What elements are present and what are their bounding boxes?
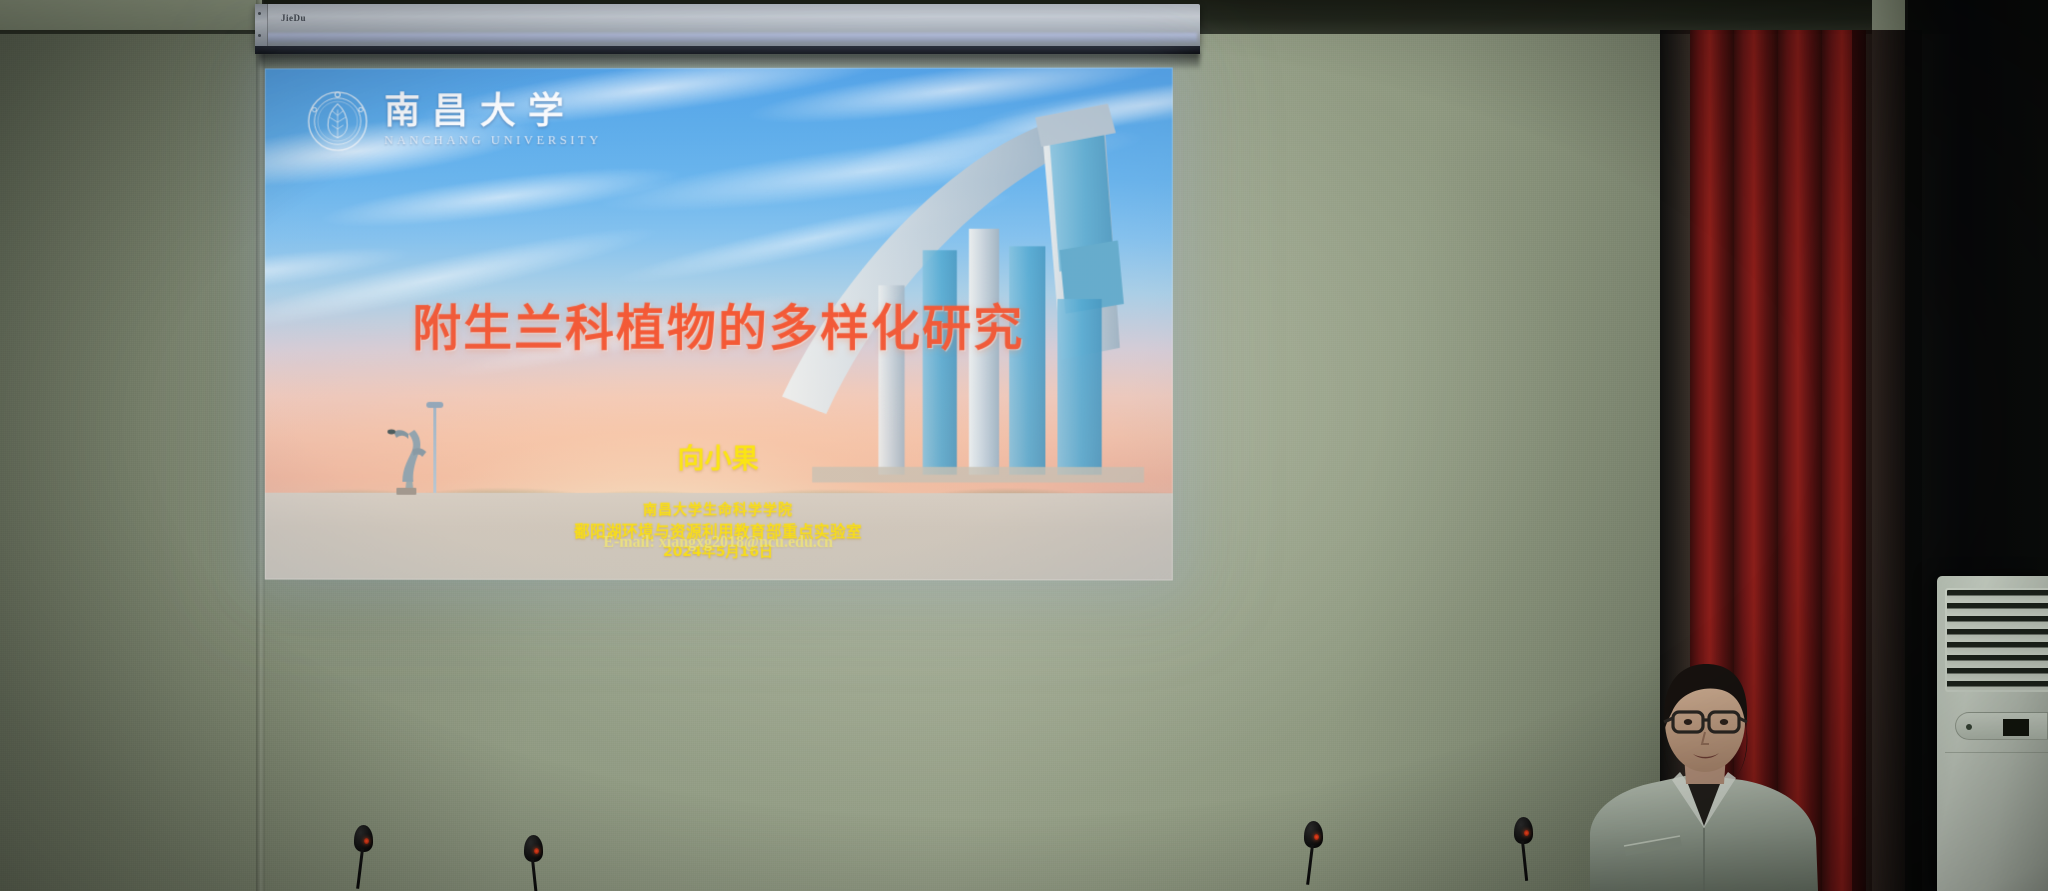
ac-seam bbox=[1945, 752, 2048, 753]
projection-screen: 南昌大学 NANCHANG UNIVERSITY 附生兰科植物的多样化研究 向小… bbox=[265, 68, 1173, 581]
microphone-1[interactable] bbox=[350, 825, 376, 891]
microphone-4[interactable] bbox=[1510, 817, 1536, 891]
university-name-block: 南昌大学 NANCHANG UNIVERSITY bbox=[384, 93, 602, 149]
university-seal-icon bbox=[306, 90, 368, 152]
microphone-3[interactable] bbox=[1300, 821, 1326, 891]
university-name-en: NANCHANG UNIVERSITY bbox=[384, 133, 602, 148]
presenter bbox=[1576, 650, 1848, 891]
microphone-stem bbox=[1521, 841, 1528, 881]
valance-light-reflection bbox=[262, 33, 1197, 42]
valance-screws bbox=[258, 12, 263, 40]
valance-drop-shadow bbox=[258, 52, 1200, 68]
microphone-head-icon bbox=[1304, 821, 1323, 848]
ac-control-panel[interactable] bbox=[1955, 712, 2048, 740]
microphone-stem bbox=[1306, 845, 1314, 885]
ac-display bbox=[2003, 719, 2029, 736]
ceiling-left-segment bbox=[0, 0, 262, 30]
microphone-led-icon bbox=[534, 848, 539, 854]
microphone-head-icon bbox=[354, 825, 373, 852]
microphone-led-icon bbox=[1314, 834, 1319, 840]
university-logo-block: 南昌大学 NANCHANG UNIVERSITY bbox=[306, 90, 601, 152]
slide-author: 向小果 bbox=[265, 436, 1173, 475]
ac-power-led-icon bbox=[1966, 724, 1972, 730]
microphone-led-icon bbox=[364, 838, 369, 844]
microphone-stem bbox=[531, 859, 538, 891]
slide-background: 南昌大学 NANCHANG UNIVERSITY 附生兰科植物的多样化研究 向小… bbox=[265, 68, 1173, 581]
microphone-led-icon bbox=[1524, 830, 1529, 836]
air-conditioner-unit bbox=[1937, 576, 2048, 891]
ac-grille-icon bbox=[1945, 588, 2048, 692]
microphone-2[interactable] bbox=[520, 835, 546, 891]
lecture-hall-scene: JieDu bbox=[0, 0, 2048, 891]
university-name-cn: 南昌大学 bbox=[384, 93, 576, 131]
slide-content: 南昌大学 NANCHANG UNIVERSITY 附生兰科植物的多样化研究 向小… bbox=[265, 68, 1173, 581]
slide-affiliation-block: 南昌大学生命科学学院 鄱阳湖环境与资源利用教育部重点实验室 2024年5月16日 bbox=[265, 500, 1173, 563]
microphone-stem bbox=[356, 849, 364, 889]
slide-title: 附生兰科植物的多样化研究 bbox=[265, 288, 1173, 359]
affiliation-line-1: 南昌大学生命科学学院 bbox=[265, 500, 1173, 521]
valance-brand-label: JieDu bbox=[281, 13, 306, 23]
wall-seam bbox=[256, 0, 265, 891]
slide-email: E-mail: xiangxg2018@ncu.edu.cn bbox=[265, 534, 1173, 553]
